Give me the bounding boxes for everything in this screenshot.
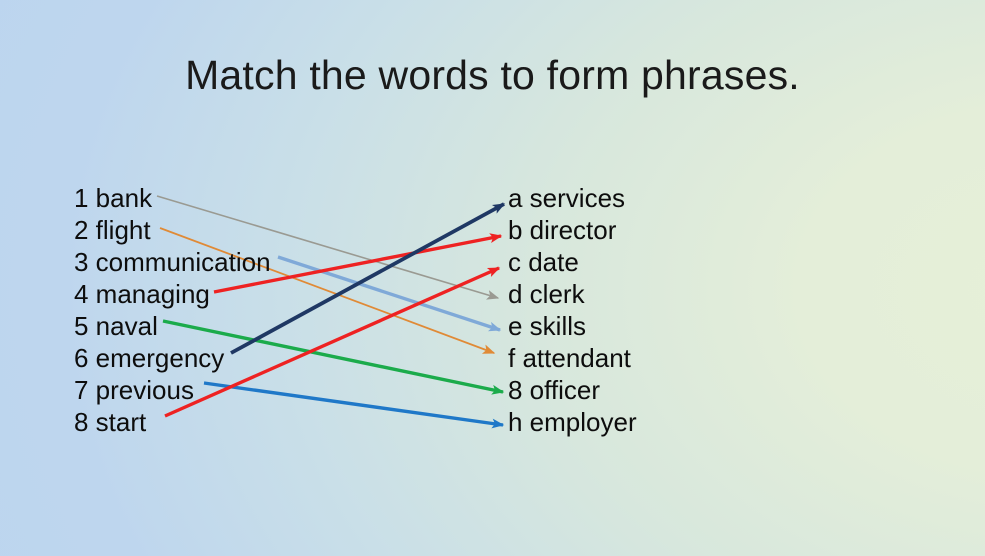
slide-canvas: Match the words to form phrases. 1 bank … bbox=[0, 0, 985, 556]
list-item[interactable]: f attendant bbox=[508, 342, 637, 374]
list-item[interactable]: b director bbox=[508, 214, 637, 246]
list-item[interactable]: 1 bank bbox=[74, 182, 271, 214]
list-item[interactable]: 8 start bbox=[74, 406, 271, 438]
list-item[interactable]: 3 communication bbox=[74, 246, 271, 278]
list-item[interactable]: a services bbox=[508, 182, 637, 214]
list-item[interactable]: 5 naval bbox=[74, 310, 271, 342]
list-item[interactable]: 8 officer bbox=[508, 374, 637, 406]
connector-communication-to-skills bbox=[278, 257, 500, 330]
list-item[interactable]: c date bbox=[508, 246, 637, 278]
list-item[interactable]: h employer bbox=[508, 406, 637, 438]
list-item[interactable]: 2 flight bbox=[74, 214, 271, 246]
list-item[interactable]: 7 previous bbox=[74, 374, 271, 406]
words-column: 1 bank 2 flight 3 communication 4 managi… bbox=[74, 182, 271, 438]
list-item[interactable]: d clerk bbox=[508, 278, 637, 310]
connector-emergency-to-services bbox=[231, 204, 504, 353]
list-item[interactable]: 4 managing bbox=[74, 278, 271, 310]
matches-column: a services b director c date d clerk e s… bbox=[508, 182, 637, 438]
list-item[interactable]: e skills bbox=[508, 310, 637, 342]
page-title: Match the words to form phrases. bbox=[0, 52, 985, 99]
list-item[interactable]: 6 emergency bbox=[74, 342, 271, 374]
